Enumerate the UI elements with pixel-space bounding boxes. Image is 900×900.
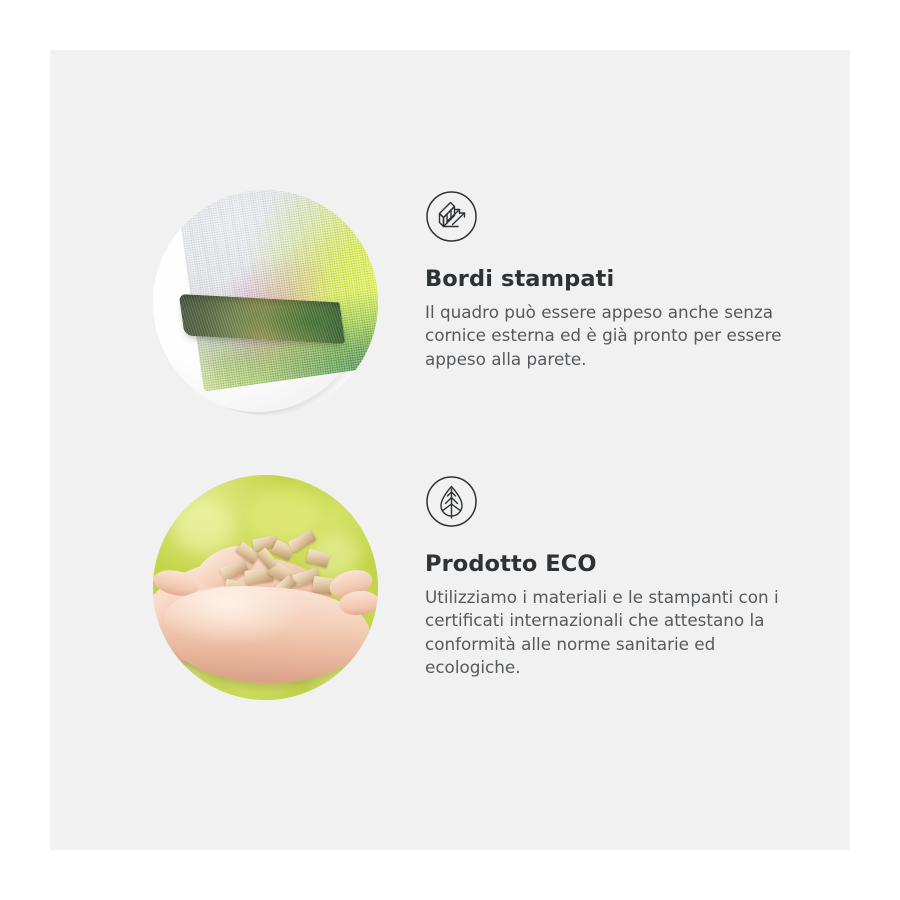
feature-image-bordi-stampati: [153, 190, 378, 415]
leaf-icon: [425, 475, 478, 528]
feature-text-prodotto-eco: Prodotto ECO Utilizziamo i materiali e l…: [425, 475, 815, 680]
feature-description: Utilizziamo i materiali e le stampanti c…: [425, 586, 793, 680]
edge-weave-texture: [179, 294, 346, 344]
feature-bordi-stampati: Bordi stampati Il quadro può essere appe…: [50, 190, 850, 470]
canvas-folded-edge: [179, 294, 346, 344]
canvas-printed-face: [176, 190, 378, 392]
wood-chip: [305, 548, 330, 568]
feature-image-prodotto-eco: [153, 475, 378, 700]
feature-description: Il quadro può essere appeso anche senza …: [425, 301, 793, 372]
canvas-weave-texture: [176, 190, 378, 392]
feature-text-bordi-stampati: Bordi stampati Il quadro può essere appe…: [425, 190, 815, 371]
feature-prodotto-eco: Prodotto ECO Utilizziamo i materiali e l…: [50, 475, 850, 755]
wood-chips-photo: [153, 475, 378, 700]
printed-edges-icon: [425, 190, 478, 243]
feature-title: Prodotto ECO: [425, 552, 815, 577]
feature-title: Bordi stampati: [425, 267, 815, 292]
content-panel: Bordi stampati Il quadro può essere appe…: [50, 50, 850, 850]
feature-infographic: Bordi stampati Il quadro può essere appe…: [0, 0, 900, 900]
canvas-corner-photo: [153, 190, 378, 415]
